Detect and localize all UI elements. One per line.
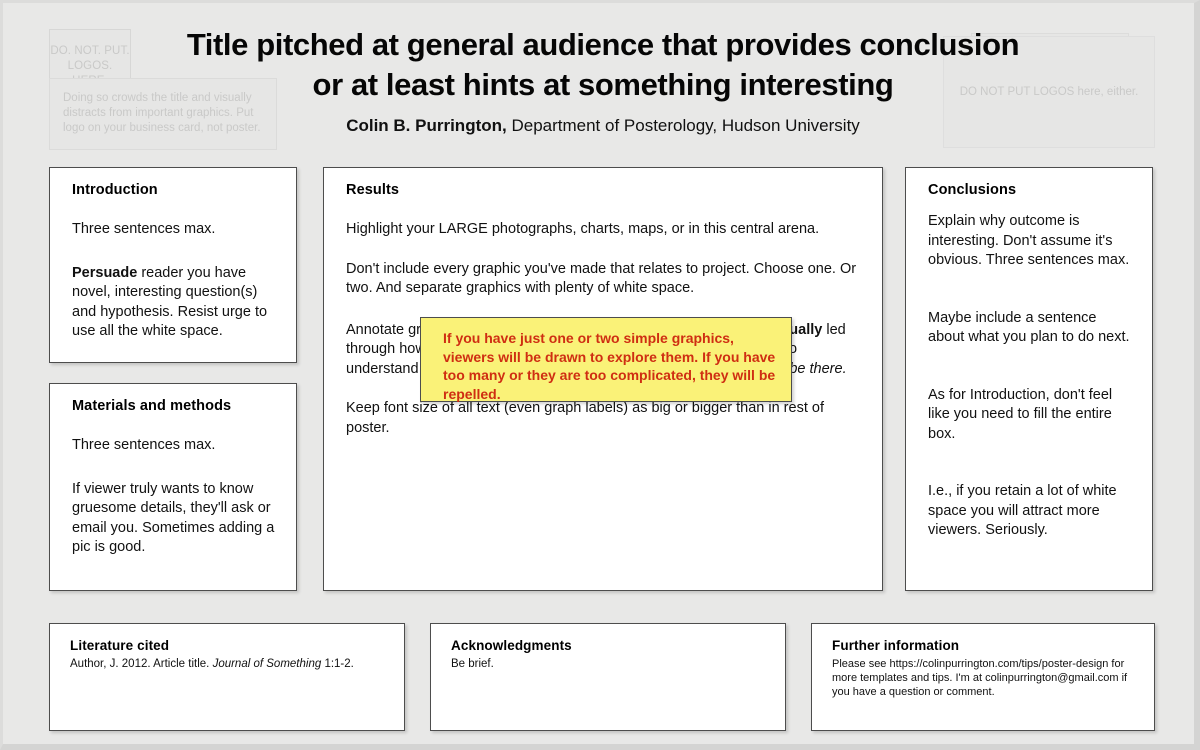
author-name: Colin B. Purrington,	[346, 116, 507, 135]
page-title-line-1: Title pitched at general audience that p…	[143, 25, 1063, 65]
further-information-text: Please see https://colinpurrington.com/t…	[832, 657, 1138, 699]
panel-materials-and-methods: Materials and methods Three sentences ma…	[49, 383, 297, 591]
acknowledgments-text: Be brief.	[451, 657, 769, 672]
page-title: Title pitched at general audience that p…	[143, 25, 1063, 105]
panel-further-information: Further information Please see https://c…	[811, 623, 1155, 731]
panel-introduction-body: Three sentences max. Persuade reader you…	[72, 220, 280, 342]
panel-literature-heading: Literature cited	[70, 638, 388, 653]
panel-results: Results Highlight your LARGE photographs…	[323, 167, 883, 591]
materials-paragraph-1: Three sentences max.	[72, 436, 280, 456]
panel-conclusions-body: Explain why outcome is interesting. Don'…	[928, 212, 1136, 541]
author-affiliation-line: Colin B. Purrington, Department of Poste…	[143, 115, 1063, 137]
panel-results-heading: Results	[346, 182, 862, 198]
conclusions-paragraph-3: As for Introduction, don't feel like you…	[928, 386, 1136, 445]
panel-materials-body: Three sentences max. If viewer truly wan…	[72, 436, 280, 558]
conclusions-paragraph-1: Explain why outcome is interesting. Don'…	[928, 212, 1136, 271]
panel-materials-heading: Materials and methods	[72, 398, 280, 414]
conclusions-paragraph-4: I.e., if you retain a lot of white space…	[928, 482, 1136, 541]
panel-acknowledgments-heading: Acknowledgments	[451, 638, 769, 653]
results-paragraph-2: Don't include every graphic you've made …	[346, 260, 862, 299]
literature-citation: Author, J. 2012. Article title. Journal …	[70, 657, 388, 672]
panel-conclusions-heading: Conclusions	[928, 182, 1136, 198]
results-paragraph-1: Highlight your LARGE photographs, charts…	[346, 220, 862, 240]
panel-further-heading: Further information	[832, 638, 1138, 653]
panel-literature-body: Author, J. 2012. Article title. Journal …	[70, 657, 388, 672]
materials-paragraph-2: If viewer truly wants to know gruesome d…	[72, 480, 280, 558]
panel-further-body: Please see https://colinpurrington.com/t…	[832, 657, 1138, 699]
panel-literature-cited: Literature cited Author, J. 2012. Articl…	[49, 623, 405, 731]
page-title-line-2: or at least hints at something interesti…	[143, 65, 1063, 105]
panel-acknowledgments-body: Be brief.	[451, 657, 769, 672]
introduction-paragraph-2: Persuade reader you have novel, interest…	[72, 264, 280, 342]
panel-results-body-upper: Highlight your LARGE photographs, charts…	[346, 220, 862, 299]
conclusions-paragraph-2: Maybe include a sentence about what you …	[928, 309, 1136, 348]
callout-box-text: If you have just one or two simple graph…	[443, 329, 777, 403]
introduction-paragraph-1: Three sentences max.	[72, 220, 280, 240]
poster-canvas: DO. NOT. PUT. LOGOS. HERE. Doing so crow…	[0, 0, 1200, 750]
panel-introduction-heading: Introduction	[72, 182, 280, 198]
callout-box-warning: If you have just one or two simple graph…	[420, 317, 792, 402]
literature-citation-prefix: Author, J. 2012. Article title.	[70, 658, 213, 670]
author-affiliation: Department of Posterology, Hudson Univer…	[507, 116, 860, 135]
literature-citation-journal: Journal of Something	[213, 658, 322, 670]
panel-conclusions: Conclusions Explain why outcome is inter…	[905, 167, 1153, 591]
panel-introduction: Introduction Three sentences max. Persua…	[49, 167, 297, 363]
literature-citation-suffix: 1:1-2.	[321, 658, 354, 670]
introduction-bold-lead: Persuade	[72, 265, 137, 281]
panel-acknowledgments: Acknowledgments Be brief.	[430, 623, 786, 731]
results-paragraph-4: Keep font size of all text (even graph l…	[346, 399, 862, 438]
